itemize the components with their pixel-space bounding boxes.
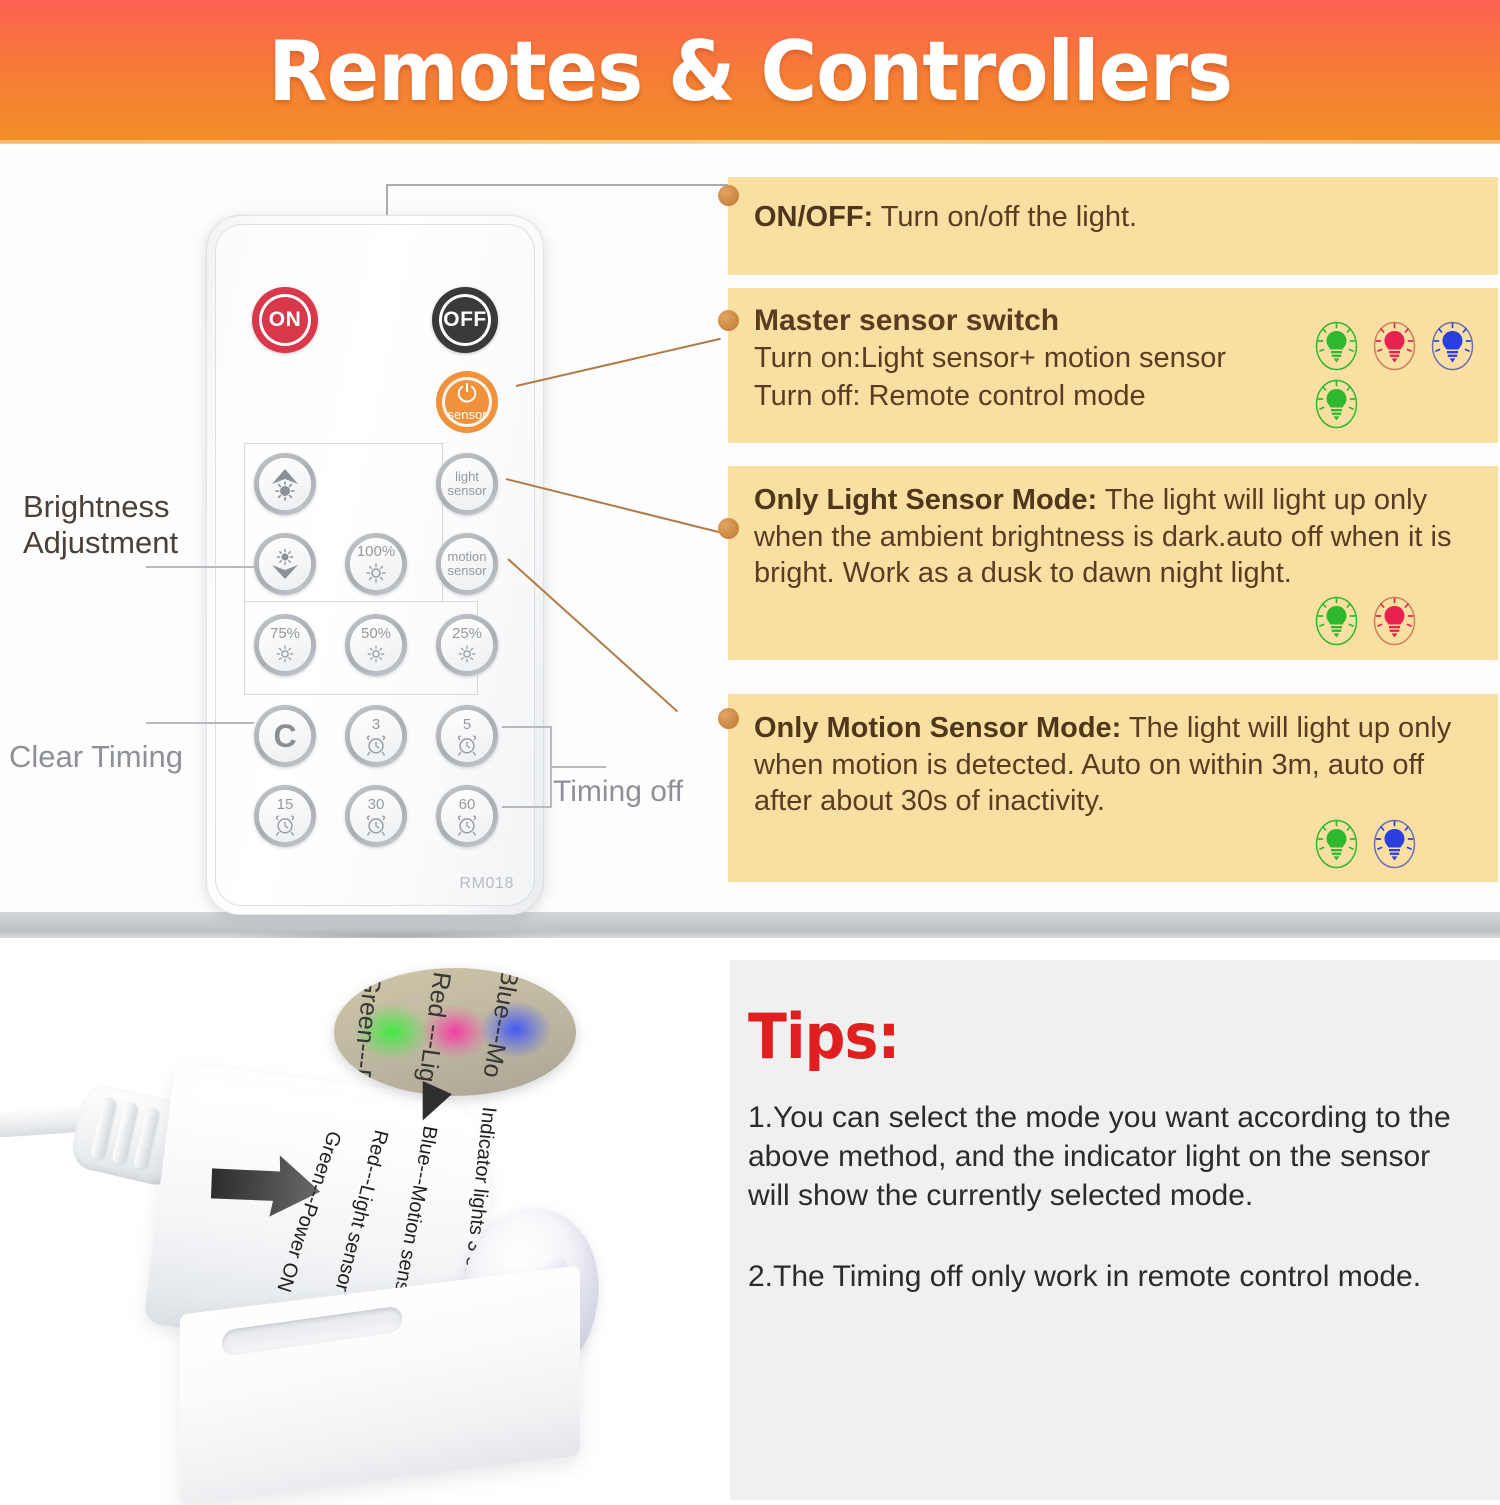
- motion-sensor-label-2: sensor: [447, 564, 486, 578]
- leader-line-onoff-to-callout: [386, 184, 728, 186]
- tips-title: Tips:: [748, 1000, 899, 1073]
- bulb-icon-blue: [1429, 320, 1476, 372]
- remote-button-brightness-100[interactable]: 100%: [345, 533, 407, 595]
- remote-button-on[interactable]: ON: [252, 287, 318, 353]
- timing-bracket-bottom: [502, 806, 552, 808]
- brightness-up-icon: [265, 464, 305, 504]
- callout-onoff-text: ON/OFF: Turn on/off the light.: [754, 199, 1472, 236]
- remote-button-light-sensor[interactable]: light sensor: [436, 453, 498, 515]
- b25-label: 25%: [452, 626, 482, 641]
- bubble-label-red: Red ---Lig: [412, 970, 456, 1084]
- bulb-icon-blue-motion-mode: [1371, 818, 1418, 870]
- section-divider: [0, 938, 1500, 960]
- remote-button-brightness-down[interactable]: [254, 533, 316, 595]
- page-header: Remotes & Controllers: [0, 0, 1500, 143]
- timing-bracket-top: [502, 726, 552, 728]
- light-sensor-label-1: light: [455, 470, 479, 484]
- timer30-label: 30: [368, 797, 385, 812]
- bulb-icon-green-remote-mode: [1313, 378, 1360, 430]
- light-sensor-label-2: sensor: [447, 484, 486, 498]
- power-icon: ⏻: [457, 382, 477, 407]
- remote-button-off[interactable]: OFF: [432, 287, 498, 353]
- alarm-clock-icon: [454, 812, 480, 836]
- connector-dot-onoff: [718, 185, 739, 206]
- alarm-clock-icon: [454, 732, 480, 756]
- remote-button-master-sensor[interactable]: ⏻ sensor: [436, 371, 498, 433]
- timer5-label: 5: [463, 717, 471, 732]
- strain-rib: [111, 1102, 138, 1165]
- remote-button-clear[interactable]: C: [254, 705, 316, 767]
- infographic-page: Remotes & Controllers ON OFF ⏻ sensor: [0, 0, 1500, 1500]
- bulb-icon-red-light-mode: [1371, 595, 1418, 647]
- connector-dot-master-sensor: [718, 310, 739, 331]
- callout-onoff-body: Turn on/off the light.: [873, 201, 1137, 233]
- b100-face: 100%: [357, 544, 395, 585]
- brightness-mid-line: [244, 601, 478, 602]
- b25-face: 25%: [452, 626, 482, 665]
- callout-onoff-bold: ON/OFF:: [754, 201, 873, 233]
- callout-master-title: Master sensor switch: [754, 302, 1472, 340]
- timer3-label: 3: [372, 717, 380, 732]
- timer3-face: 3: [363, 717, 389, 756]
- brightness-down-icon: [265, 544, 305, 584]
- clear-label: C: [273, 720, 296, 752]
- light-sensor-face: light sensor: [447, 470, 486, 498]
- timer15-face: 15: [272, 797, 298, 836]
- remote-button-timer-5[interactable]: 5: [436, 705, 498, 767]
- b50-face: 50%: [361, 626, 391, 665]
- tips-item-1: 1.You can select the mode you want accor…: [748, 1098, 1462, 1215]
- remote-model-label: RM018: [459, 875, 514, 893]
- alarm-clock-icon: [363, 812, 389, 836]
- strain-rib: [90, 1097, 117, 1160]
- header-underline: [0, 140, 1500, 144]
- remote-button-timer-15[interactable]: 15: [254, 785, 316, 847]
- sun-icon: [273, 641, 297, 665]
- label-brightness-adjustment: Brightness Adjustment: [23, 489, 178, 560]
- callout-motion-text: Only Motion Sensor Mode: The light will …: [754, 710, 1472, 820]
- remote-button-brightness-25[interactable]: 25%: [436, 614, 498, 676]
- connector-dot-motion-sensor: [718, 708, 739, 729]
- leader-line-clear-timing: [146, 722, 254, 724]
- callout-light-text: Only Light Sensor Mode: The light will l…: [754, 482, 1472, 592]
- tips-body: 1.You can select the mode you want accor…: [748, 1098, 1462, 1296]
- timer60-face: 60: [454, 797, 480, 836]
- remote-button-brightness-75[interactable]: 75%: [254, 614, 316, 676]
- motion-sensor-label-1: motion: [447, 550, 486, 564]
- timer60-label: 60: [459, 797, 476, 812]
- callout-master-line2: Turn on:Light sensor+ motion sensor: [754, 340, 1472, 378]
- label-timing-off: Timing off: [553, 775, 683, 810]
- sensor-button-label: sensor: [447, 407, 486, 422]
- on-button-label: ON: [269, 308, 302, 332]
- b75-face: 75%: [270, 626, 300, 665]
- callout-light-bold: Only Light Sensor Mode:: [754, 484, 1097, 516]
- remote-button-timer-3[interactable]: 3: [345, 705, 407, 767]
- bulb-icon-green: [1313, 320, 1360, 372]
- remote-control: ON OFF ⏻ sensor: [206, 215, 544, 915]
- bubble-label-blue: Blue---Mo: [476, 968, 524, 1080]
- motion-sensor-face: motion sensor: [447, 550, 486, 578]
- label-clear-timing: Clear Timing: [9, 739, 183, 775]
- bulb-icon-green-light-mode: [1313, 595, 1360, 647]
- b50-label: 50%: [361, 626, 391, 641]
- strain-rib: [133, 1107, 160, 1170]
- timer5-face: 5: [454, 717, 480, 756]
- off-button-label: OFF: [443, 308, 487, 332]
- bulb-icon-red: [1371, 320, 1418, 372]
- led-magnifier-bubble: Green---P Red ---Lig Blue---Mo: [334, 968, 576, 1096]
- b100-label: 100%: [357, 544, 395, 559]
- remote-button-brightness-up[interactable]: [254, 453, 316, 515]
- sun-icon: [455, 641, 479, 665]
- remote-button-motion-sensor[interactable]: motion sensor: [436, 533, 498, 595]
- timer15-label: 15: [277, 797, 294, 812]
- bulb-icon-green-motion-mode: [1313, 818, 1360, 870]
- alarm-clock-icon: [363, 732, 389, 756]
- clear-face: C: [273, 720, 296, 752]
- remote-button-timer-30[interactable]: 30: [345, 785, 407, 847]
- page-title: Remotes & Controllers: [268, 23, 1232, 120]
- connector-dot-light-sensor: [718, 518, 739, 539]
- tips-item-2: 2.The Timing off only work in remote con…: [748, 1257, 1462, 1296]
- surface-shelf: [0, 912, 1500, 938]
- brightness-bottom-line: [244, 694, 478, 695]
- callout-onoff: ON/OFF: Turn on/off the light.: [728, 177, 1498, 275]
- timing-bracket-stem: [550, 766, 606, 768]
- callout-motion-bold: Only Motion Sensor Mode:: [754, 712, 1121, 744]
- alarm-clock-icon: [272, 812, 298, 836]
- sun-icon: [364, 641, 388, 665]
- remote-button-timer-60[interactable]: 60: [436, 785, 498, 847]
- callout-master-line3: Turn off: Remote control mode: [754, 378, 1472, 416]
- timer30-face: 30: [363, 797, 389, 836]
- sun-icon: [363, 559, 389, 585]
- leader-line-brightness: [146, 566, 254, 568]
- b75-label: 75%: [270, 626, 300, 641]
- remote-button-brightness-50[interactable]: 50%: [345, 614, 407, 676]
